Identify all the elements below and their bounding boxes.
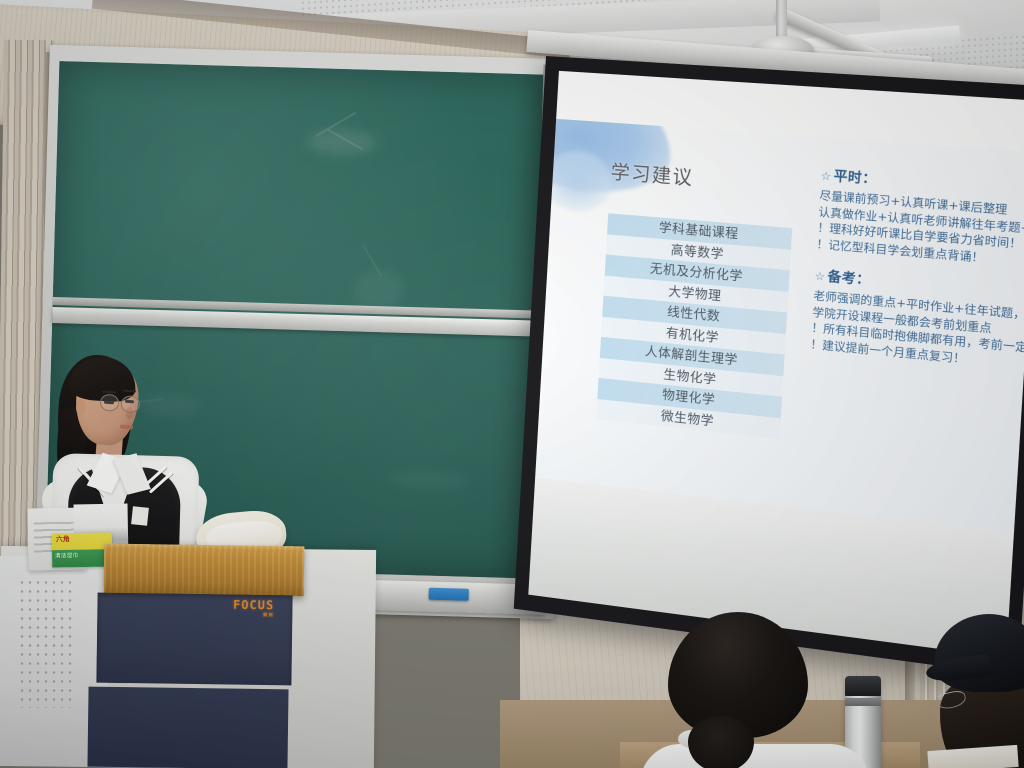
podium-wooden-top [104, 544, 305, 597]
eyeglasses-icon [99, 394, 140, 413]
star-icon: ☆ [814, 269, 826, 283]
slide-notes: ☆平时： 尽量课前预习+认真听课+课后整理 认真做作业+认真听老师讲解往年考题+… [810, 162, 1024, 376]
podium-brand-logo: FOCUS 聚焦 [233, 598, 274, 619]
chest-badge [131, 506, 149, 526]
wood-grain [104, 544, 305, 597]
speaker-grille-icon [18, 578, 76, 708]
classroom-photo: 学习建议 学科基础课程 高等数学 无机及分析化学 大学物理 线性代数 有机化学 … [0, 0, 1024, 768]
blackboard-eraser-icon [429, 588, 469, 601]
product-label-bottom: 清洁湿巾 [55, 551, 78, 559]
screen-surface: 学习建议 学科基础课程 高等数学 无机及分析化学 大学物理 线性代数 有机化学 … [528, 71, 1024, 658]
projection-screen: 学习建议 学科基础课程 高等数学 无机及分析化学 大学物理 线性代数 有机化学 … [514, 56, 1024, 676]
note-heading-text: 平时： [833, 169, 877, 188]
course-list: 学科基础课程 高等数学 无机及分析化学 大学物理 线性代数 有机化学 人体解剖生… [596, 213, 792, 439]
product-label-top: 六角 [56, 534, 70, 544]
presentation-slide: 学习建议 学科基础课程 高等数学 无机及分析化学 大学物理 线性代数 有机化学 … [535, 119, 1024, 533]
podium-brand-text: FOCUS [233, 598, 274, 613]
podium-brand-subtext: 聚焦 [233, 612, 274, 619]
student-ponytail [640, 612, 855, 768]
student-shoulders [640, 744, 870, 768]
lens [99, 394, 119, 412]
student-ponytail-bundle [688, 716, 754, 768]
note-heading-text: 备考： [827, 269, 871, 288]
podium-lower-panel [87, 687, 288, 768]
star-icon: ☆ [820, 169, 832, 183]
